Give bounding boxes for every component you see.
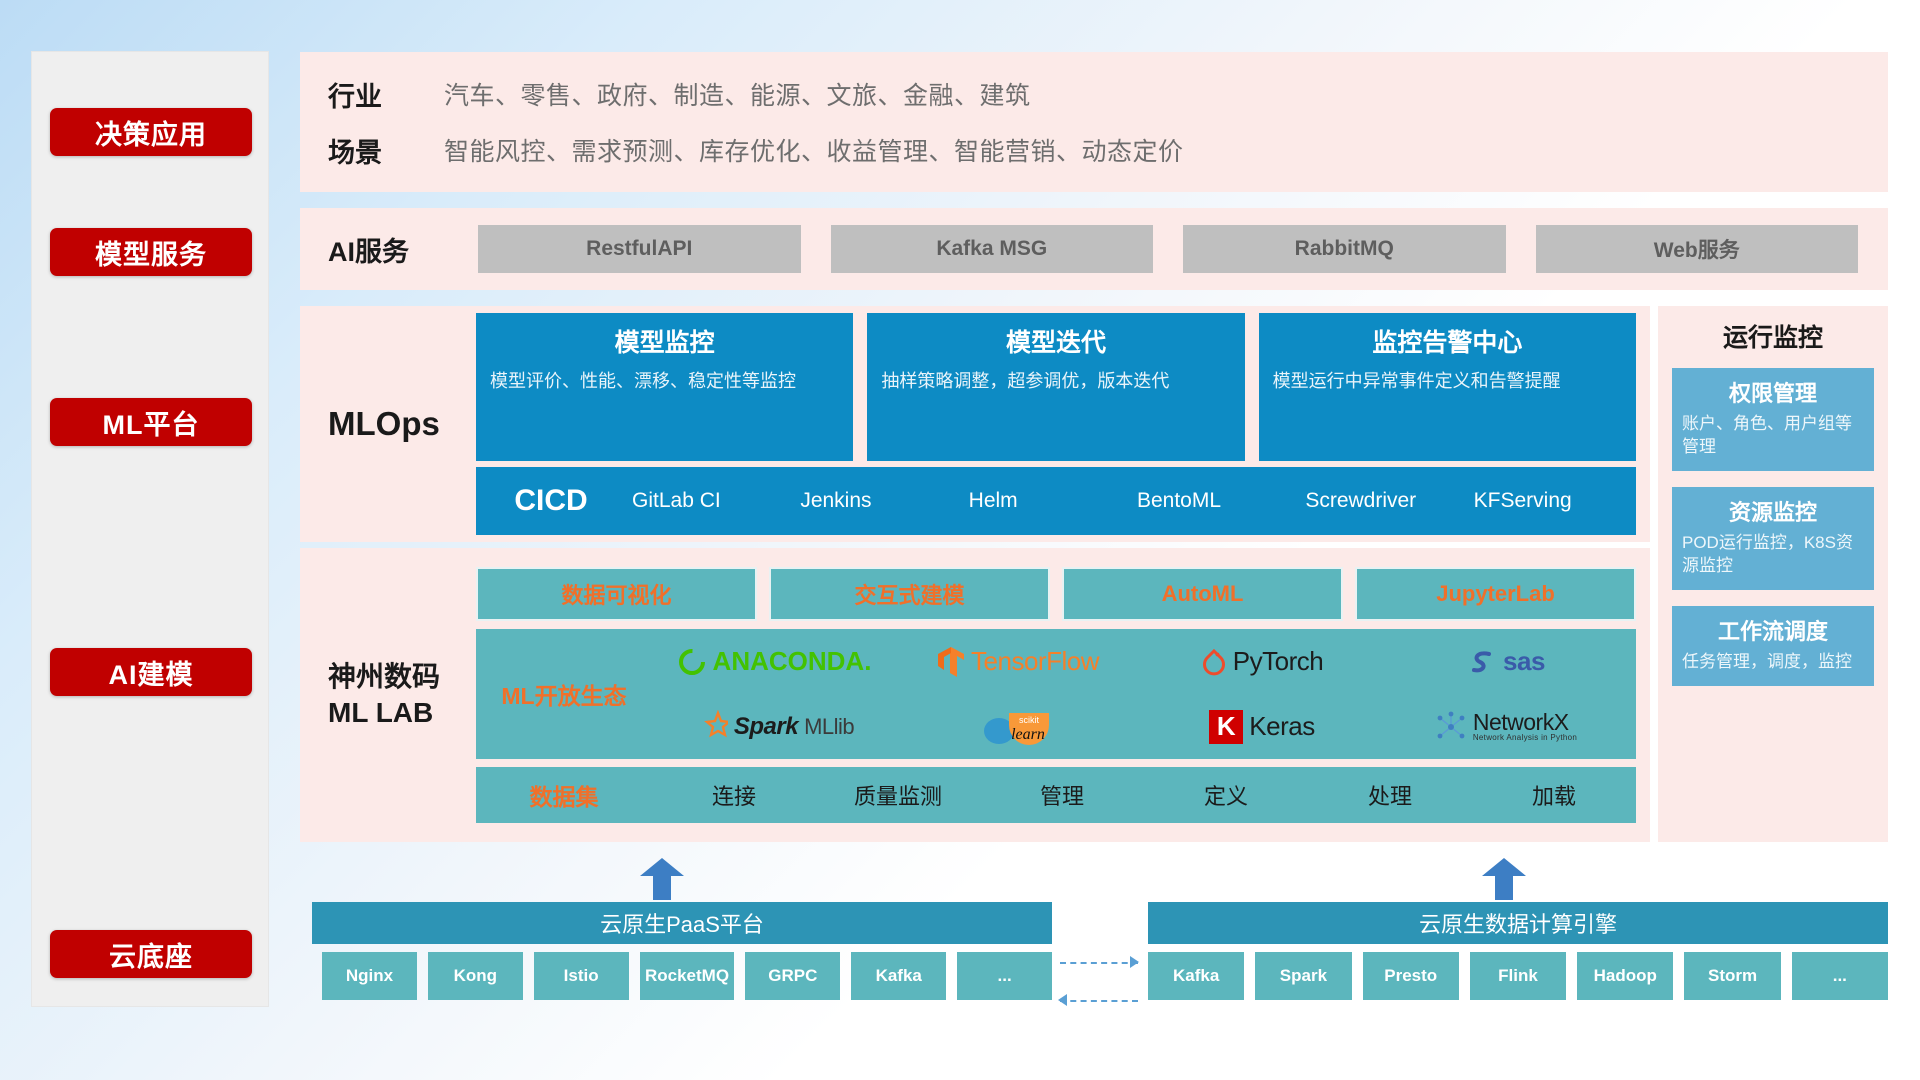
engine-chip-spark[interactable]: Spark	[1255, 952, 1351, 1000]
dashed-arrow-left-icon	[1058, 994, 1067, 1006]
mlops-card-model-monitoring[interactable]: 模型监控 模型评价、性能、漂移、稳定性等监控	[476, 313, 853, 461]
up-arrow-paas-icon	[640, 858, 684, 900]
paas-chip-rocketmq[interactable]: RocketMQ	[640, 952, 735, 1000]
scikit-learn-mark-icon: scikit learn	[981, 705, 1055, 749]
ai-service-chip-kafka-msg[interactable]: Kafka MSG	[831, 225, 1154, 273]
ml-lab-tool-jupyterlab[interactable]: JupyterLab	[1355, 567, 1636, 621]
mlops-card-desc: 模型评价、性能、漂移、稳定性等监控	[490, 369, 839, 394]
ml-lab-label: 神州数码 ML LAB	[328, 659, 476, 732]
networkx-mark-icon	[1435, 711, 1467, 743]
monitor-card-resource[interactable]: 资源监控 POD运行监控，K8S资源监控	[1672, 487, 1874, 590]
ai-service-chip-web[interactable]: Web服务	[1536, 225, 1859, 273]
monitor-card-desc: POD运行监控，K8S资源监控	[1682, 532, 1864, 578]
paas-chip-kong[interactable]: Kong	[428, 952, 523, 1000]
engine-chip-more[interactable]: ...	[1792, 952, 1888, 1000]
ml-lab-label-line1: 神州数码	[328, 659, 476, 695]
sas-mark-icon	[1467, 647, 1497, 677]
runtime-monitoring-panel: 运行监控 权限管理 账户、角色、用户组等管理 资源监控 POD运行监控，K8S资…	[1658, 306, 1888, 842]
pytorch-mark-icon	[1201, 647, 1227, 677]
stage-chip-cloud-base[interactable]: 云底座	[50, 930, 252, 978]
dataset-item-define[interactable]: 定义	[1144, 779, 1308, 811]
monitor-card-title: 权限管理	[1682, 376, 1864, 408]
cicd-title: CICD	[476, 484, 626, 518]
scikit-learn-logo: scikit learn	[981, 705, 1055, 749]
dataset-item-manage[interactable]: 管理	[980, 779, 1144, 811]
mlops-card-grid: 模型监控 模型评价、性能、漂移、稳定性等监控 模型迭代 抽样策略调整，超参调优，…	[476, 313, 1636, 461]
svg-text:scikit: scikit	[1019, 715, 1039, 725]
industry-value: 汽车、零售、政府、制造、能源、文旅、金融、建筑	[444, 76, 1031, 112]
svg-text:learn: learn	[1011, 726, 1045, 743]
ml-ecosystem-label: ML开放生态	[476, 677, 652, 711]
dashed-connector-left	[1060, 1000, 1138, 1002]
up-arrow-engine-icon	[1482, 858, 1526, 900]
engine-chip-hadoop[interactable]: Hadoop	[1577, 952, 1673, 1000]
paas-chip-row: Nginx Kong Istio RocketMQ GRPC Kafka ...	[322, 952, 1052, 1000]
paas-platform-bar: 云原生PaaS平台	[312, 902, 1052, 944]
cicd-item-list: GitLab CI Jenkins Helm BentoML Screwdriv…	[626, 486, 1636, 516]
industry-label: 行业	[328, 75, 444, 114]
engine-chip-flink[interactable]: Flink	[1470, 952, 1566, 1000]
monitor-card-title: 工作流调度	[1682, 614, 1864, 646]
ai-service-band: AI服务 RestfulAPI Kafka MSG RabbitMQ Web服务	[300, 208, 1888, 290]
mlops-card-desc: 模型运行中异常事件定义和告警提醒	[1273, 369, 1622, 394]
application-row-scenario: 场景 智能风控、需求预测、库存优化、收益管理、智能营销、动态定价	[328, 122, 1888, 178]
dashed-arrow-right-icon	[1130, 956, 1139, 968]
monitor-card-permission[interactable]: 权限管理 账户、角色、用户组等管理	[1672, 368, 1874, 471]
networkx-wordmark: NetworkX	[1473, 711, 1577, 734]
spark-star-icon	[694, 710, 728, 744]
dataset-item-process[interactable]: 处理	[1308, 779, 1472, 811]
engine-chip-kafka[interactable]: Kafka	[1148, 952, 1244, 1000]
paas-chip-grpc[interactable]: GRPC	[745, 952, 840, 1000]
scenario-value: 智能风控、需求预测、库存优化、收益管理、智能营销、动态定价	[444, 132, 1184, 168]
sas-logo: sas	[1467, 646, 1545, 677]
paas-chip-nginx[interactable]: Nginx	[322, 952, 417, 1000]
stage-rail: 决策应用 模型服务 ML平台 AI建模 云底座	[32, 52, 268, 1006]
ml-lab-band: 神州数码 ML LAB 数据可视化 交互式建模 AutoML JupyterLa…	[300, 548, 1650, 842]
engine-chip-presto[interactable]: Presto	[1363, 952, 1459, 1000]
mlops-card-desc: 抽样策略调整，超参调优，版本迭代	[881, 369, 1230, 394]
pytorch-logo: PyTorch	[1201, 646, 1323, 677]
mllib-wordmark: MLlib	[804, 714, 854, 740]
cicd-item-helm[interactable]: Helm	[963, 486, 1131, 516]
ml-lab-label-line2: ML LAB	[328, 695, 476, 731]
keras-mark-icon: K	[1209, 710, 1243, 744]
anaconda-logo: ANACONDA.	[677, 646, 872, 677]
dataset-row: 数据集 连接 质量监测 管理 定义 处理 加载	[476, 767, 1636, 823]
engine-chip-row: Kafka Spark Presto Flink Hadoop Storm ..…	[1148, 952, 1888, 1000]
dataset-item-quality[interactable]: 质量监测	[816, 779, 980, 811]
cicd-bar: CICD GitLab CI Jenkins Helm BentoML Scre…	[476, 467, 1636, 535]
cicd-item-bentoml[interactable]: BentoML	[1131, 486, 1299, 516]
tensorflow-mark-icon	[937, 646, 965, 678]
ai-service-chip-restfulapi[interactable]: RestfulAPI	[478, 225, 801, 273]
cicd-item-screwdriver[interactable]: Screwdriver	[1299, 486, 1467, 516]
networkx-logo: NetworkX Network Analysis in Python	[1435, 711, 1577, 743]
stage-chip-ai-modeling[interactable]: AI建模	[50, 648, 252, 696]
mlops-label: MLOps	[328, 405, 476, 443]
mlops-card-title: 模型监控	[490, 323, 839, 359]
keras-wordmark: Keras	[1249, 711, 1314, 742]
dataset-item-connect[interactable]: 连接	[652, 779, 816, 811]
data-engine-bar: 云原生数据计算引擎	[1148, 902, 1888, 944]
mlops-card-title: 监控告警中心	[1273, 323, 1622, 359]
cicd-item-jenkins[interactable]: Jenkins	[794, 486, 962, 516]
runtime-monitoring-title: 运行监控	[1672, 318, 1874, 354]
monitor-card-desc: 任务管理，调度，监控	[1682, 651, 1864, 674]
monitor-card-title: 资源监控	[1682, 495, 1864, 527]
engine-chip-storm[interactable]: Storm	[1684, 952, 1780, 1000]
spark-wordmark: Spark	[734, 713, 798, 741]
mlops-band: MLOps 模型监控 模型评价、性能、漂移、稳定性等监控 模型迭代 抽样策略调整…	[300, 306, 1650, 542]
ml-ecosystem-row: ML开放生态 ANACONDA. TensorFlow	[476, 629, 1636, 759]
ai-service-chip-rabbitmq[interactable]: RabbitMQ	[1183, 225, 1506, 273]
mlops-card-alert-center[interactable]: 监控告警中心 模型运行中异常事件定义和告警提醒	[1259, 313, 1636, 461]
anaconda-wordmark: ANACONDA.	[713, 646, 872, 677]
stage-chip-ml-platform[interactable]: ML平台	[50, 398, 252, 446]
ai-service-chip-grid: RestfulAPI Kafka MSG RabbitMQ Web服务	[478, 225, 1888, 273]
stage-chip-model-serving[interactable]: 模型服务	[50, 228, 252, 276]
application-row-industry: 行业 汽车、零售、政府、制造、能源、文旅、金融、建筑	[328, 66, 1888, 122]
monitor-card-desc: 账户、角色、用户组等管理	[1682, 413, 1864, 459]
scenario-label: 场景	[328, 131, 444, 170]
tensorflow-wordmark: TensorFlow	[971, 646, 1099, 677]
paas-chip-istio[interactable]: Istio	[534, 952, 629, 1000]
cicd-item-kfserving[interactable]: KFServing	[1468, 486, 1636, 516]
paas-chip-more[interactable]: ...	[957, 952, 1052, 1000]
mlops-card-title: 模型迭代	[881, 323, 1230, 359]
anaconda-mark-icon	[677, 647, 707, 677]
tensorflow-logo: TensorFlow	[937, 646, 1099, 678]
ai-service-label: AI服务	[328, 230, 478, 269]
networkx-tagline: Network Analysis in Python	[1473, 734, 1577, 742]
spark-mllib-logo: Spark MLlib	[694, 710, 854, 744]
pytorch-wordmark: PyTorch	[1233, 646, 1323, 677]
dataset-item-load[interactable]: 加载	[1472, 779, 1636, 811]
ml-lab-tool-data-visualization[interactable]: 数据可视化	[476, 567, 757, 621]
dataset-label: 数据集	[476, 778, 652, 812]
ml-lab-tool-row: 数据可视化 交互式建模 AutoML JupyterLab	[476, 567, 1636, 621]
cicd-item-gitlab-ci[interactable]: GitLab CI	[626, 486, 794, 516]
application-band: 行业 汽车、零售、政府、制造、能源、文旅、金融、建筑 场景 智能风控、需求预测、…	[300, 52, 1888, 192]
dataset-item-list: 连接 质量监测 管理 定义 处理 加载	[652, 779, 1636, 811]
ml-lab-tool-interactive-modeling[interactable]: 交互式建模	[769, 567, 1050, 621]
mlops-card-model-iteration[interactable]: 模型迭代 抽样策略调整，超参调优，版本迭代	[867, 313, 1244, 461]
ml-ecosystem-logo-grid: ANACONDA. TensorFlow PyTorch	[652, 629, 1636, 759]
monitor-card-workflow[interactable]: 工作流调度 任务管理，调度，监控	[1672, 606, 1874, 686]
dashed-connector-right	[1060, 962, 1138, 964]
ml-lab-tool-automl[interactable]: AutoML	[1062, 567, 1343, 621]
stage-chip-decision[interactable]: 决策应用	[50, 108, 252, 156]
sas-wordmark: sas	[1503, 646, 1545, 677]
paas-chip-kafka[interactable]: Kafka	[851, 952, 946, 1000]
keras-logo: K Keras	[1209, 710, 1314, 744]
